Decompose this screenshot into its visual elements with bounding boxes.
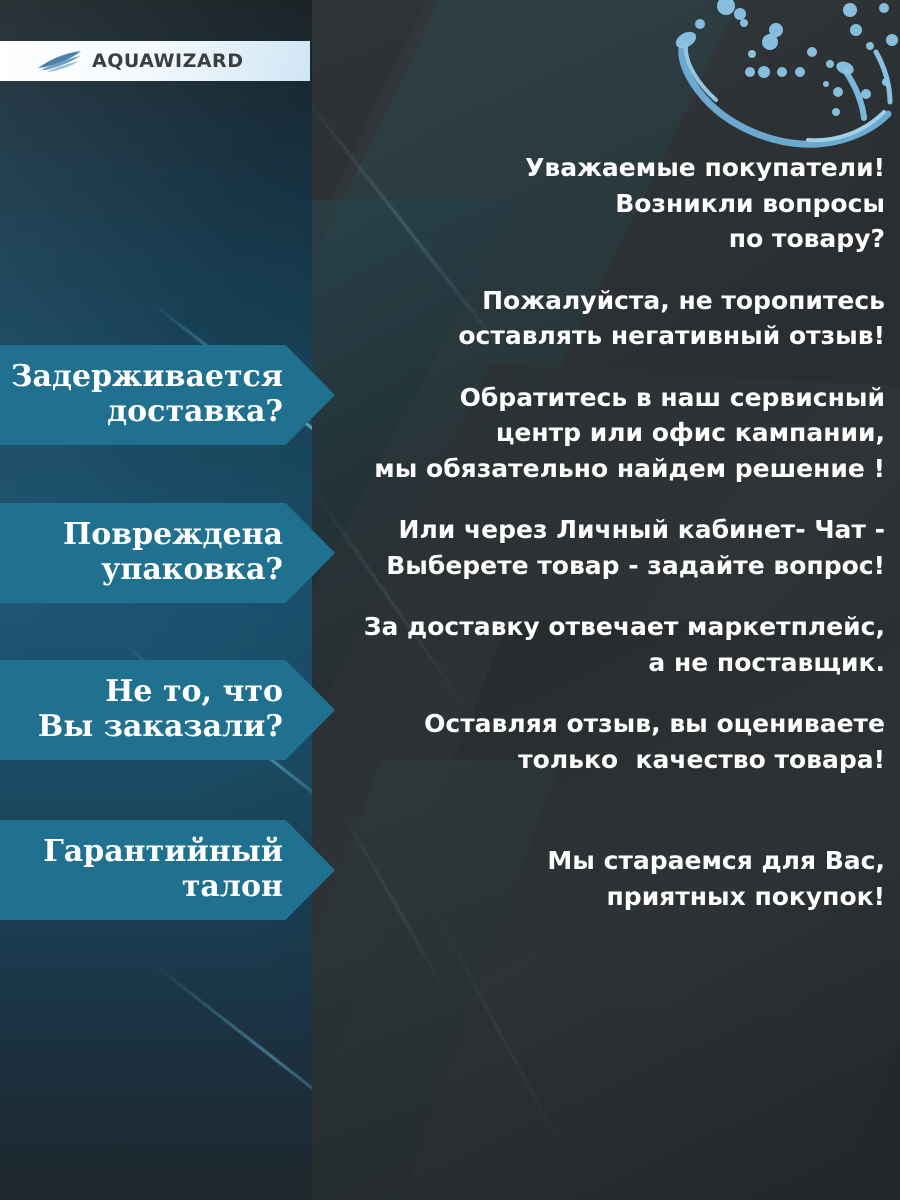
message-line: За доставку отвечает маркетплейс,: [330, 609, 885, 645]
message-line: по товару?: [330, 221, 885, 257]
message-line: только качество товара!: [330, 742, 885, 778]
message-line: Или через Личный кабинет- Чат -: [330, 512, 885, 548]
ribbon-line-2: талон: [182, 870, 283, 905]
message-line: а не поставщик.: [330, 645, 885, 681]
message-line: Пожалуйста, не торопитесь: [330, 283, 885, 319]
message-line: оставлять негативный отзыв!: [330, 318, 885, 354]
ribbon-content: Гарантийный талон: [0, 820, 335, 920]
message-line: Выберете товар - задайте вопрос!: [330, 548, 885, 584]
ribbon-content: Повреждена упаковка?: [0, 503, 335, 603]
ribbon-line-2: Вы заказали?: [38, 710, 283, 745]
message-personal-account-chat: Или через Личный кабинет- Чат - Выберете…: [330, 512, 885, 583]
message-column: Уважаемые покупатели! Возникли вопросы п…: [330, 150, 885, 914]
ribbon-warranty-card[interactable]: Гарантийный талон: [0, 820, 335, 920]
water-wave-icon: [37, 50, 83, 72]
message-line: Мы стараемся для Вас,: [330, 843, 885, 879]
message-line: приятных покупок!: [330, 879, 885, 915]
brand-logo-bar[interactable]: AQUAWIZARD: [0, 41, 310, 81]
ribbon-line-1: Гарантийный: [43, 835, 283, 870]
message-line: Уважаемые покупатели!: [330, 150, 885, 186]
message-marketplace-delivery: За доставку отвечает маркетплейс, а не п…: [330, 609, 885, 680]
ribbon-delayed-delivery[interactable]: Задерживается доставка?: [0, 345, 335, 445]
ribbon-line-1: Задерживается: [11, 360, 283, 395]
brand-logo-text: AQUAWIZARD: [92, 52, 243, 71]
message-spacer: [330, 803, 885, 843]
panel-sheen: [149, 960, 312, 1135]
message-line: Обратитесь в наш сервисный: [330, 380, 885, 416]
message-closing: Мы стараемся для Вас, приятных покупок!: [330, 843, 885, 914]
message-line: Оставляя отзыв, вы оцениваете: [330, 706, 885, 742]
ribbon-line-1: Не то, что: [105, 675, 283, 710]
ribbon-line-2: доставка?: [107, 395, 283, 430]
message-contact-service-center: Обратитесь в наш сервисный центр или офи…: [330, 380, 885, 487]
ribbon-wrong-item[interactable]: Не то, что Вы заказали?: [0, 660, 335, 760]
message-line: Возникли вопросы: [330, 186, 885, 222]
message-line: мы обязательно найдем решение !: [330, 451, 885, 487]
ribbon-damaged-packaging[interactable]: Повреждена упаковка?: [0, 503, 335, 603]
message-line: центр или офис кампании,: [330, 415, 885, 451]
message-review-quality-only: Оставляя отзыв, вы оцениваете только кач…: [330, 706, 885, 777]
message-greeting: Уважаемые покупатели! Возникли вопросы п…: [330, 150, 885, 257]
ribbon-content: Задерживается доставка?: [0, 345, 335, 445]
ribbon-content: Не то, что Вы заказали?: [0, 660, 335, 760]
promo-card: AQUAWIZARD Задерживается доставка? Повре…: [0, 0, 900, 1200]
ribbon-line-2: упаковка?: [101, 553, 283, 588]
message-no-negative-review: Пожалуйста, не торопитесь оставлять нега…: [330, 283, 885, 354]
ribbon-line-1: Повреждена: [63, 518, 283, 553]
